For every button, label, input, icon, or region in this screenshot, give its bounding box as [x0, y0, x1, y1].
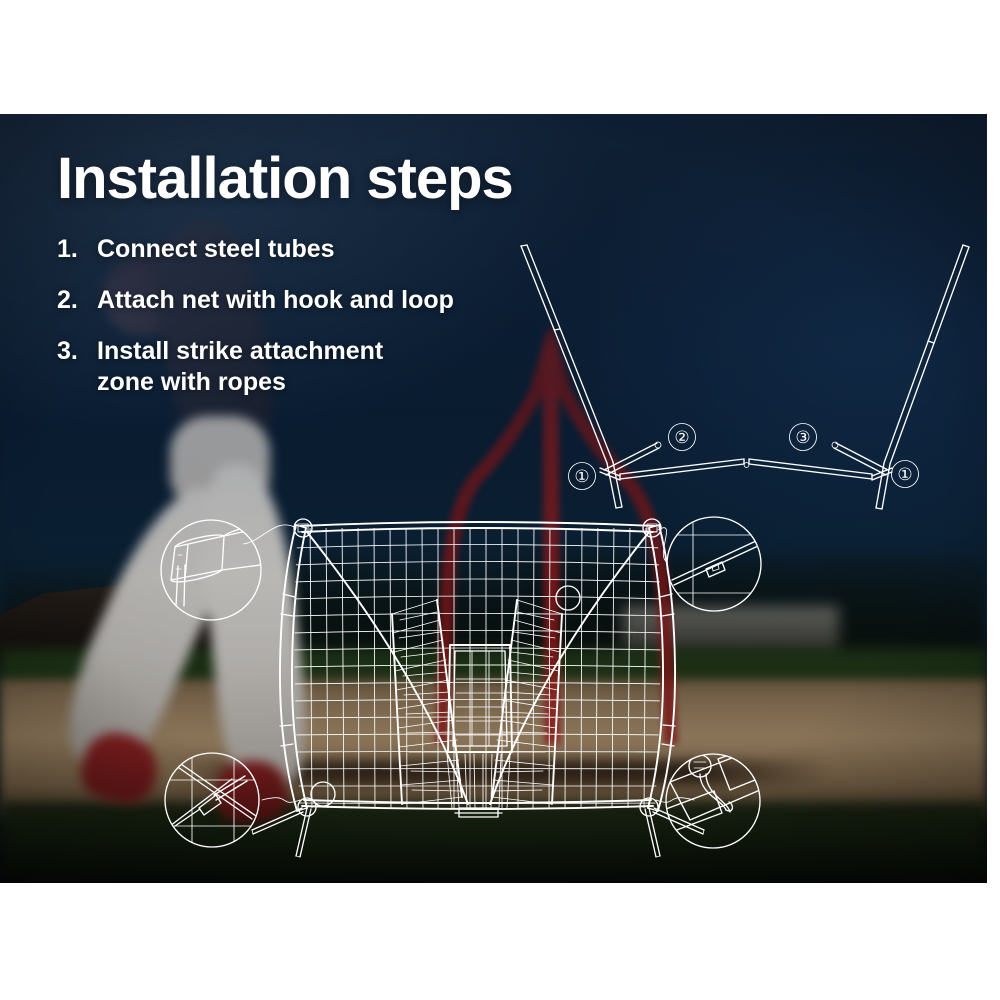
detail-circle-bottom-right	[656, 748, 760, 848]
page-title: Installation steps	[57, 150, 577, 208]
detail-circle-top-right	[658, 517, 761, 611]
step-text-1: Connect steel tubes	[97, 234, 577, 265]
instructions-panel: Installation steps 1. Connect steel tube…	[57, 150, 577, 418]
step-text-3-line2: zone with ropes	[97, 368, 286, 396]
svg-text:②: ②	[674, 428, 689, 447]
detail-circle-bottom-left	[165, 753, 300, 847]
svg-text:③: ③	[795, 428, 810, 447]
svg-text:①: ①	[574, 467, 589, 486]
callout-1-left: ①	[569, 463, 596, 490]
exploded-tube-assembly: ① ② ③ ①	[521, 245, 969, 509]
callout-2: ②	[669, 424, 696, 451]
step-number-2: 2.	[57, 285, 97, 316]
step-text-2: Attach net with hook and loop	[97, 285, 577, 316]
step-text-3: Install strike attachment zone with rope…	[97, 336, 577, 398]
practice-net-assembly	[252, 514, 704, 857]
step-number-1: 1.	[57, 234, 97, 265]
callout-1-right: ①	[892, 461, 919, 488]
step-text-3-line1: Install strike attachment	[97, 337, 383, 365]
step-item-2: 2. Attach net with hook and loop	[57, 285, 577, 316]
step-item-1: 1. Connect steel tubes	[57, 234, 577, 265]
screenshot-canvas: Installation steps 1. Connect steel tube…	[0, 0, 1000, 1000]
step-number-3: 3.	[57, 336, 97, 367]
svg-text:①: ①	[897, 465, 912, 484]
step-item-3: 3. Install strike attachment zone with r…	[57, 336, 577, 398]
net-mesh	[291, 514, 665, 814]
callout-3: ③	[790, 424, 817, 451]
detail-circle-top-left	[161, 520, 296, 620]
